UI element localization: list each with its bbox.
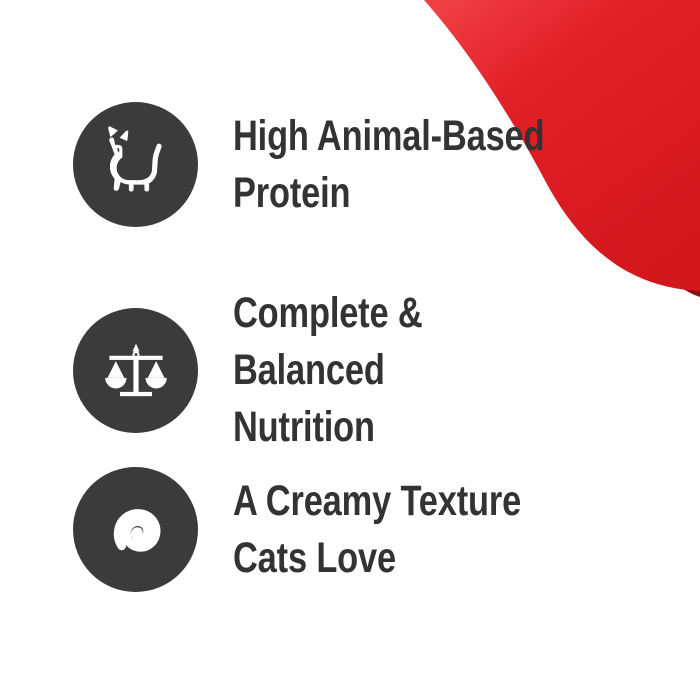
feature-label: Complete & Balanced Nutrition [233, 285, 553, 456]
cat-silhouette-icon [73, 102, 198, 227]
product-feature-panel: High Animal-Based Protein [0, 0, 700, 700]
feature-label: High Animal-Based Protein [233, 108, 553, 222]
balance-scale-icon [73, 308, 198, 433]
feature-item-texture: A Creamy Texture Cats Love [73, 467, 633, 592]
feature-list: High Animal-Based Protein [0, 0, 700, 700]
spiral-swirl-icon [73, 467, 198, 592]
feature-label: A Creamy Texture Cats Love [233, 473, 553, 587]
feature-item-nutrition: Complete & Balanced Nutrition [73, 285, 633, 456]
feature-item-protein: High Animal-Based Protein [73, 102, 633, 227]
